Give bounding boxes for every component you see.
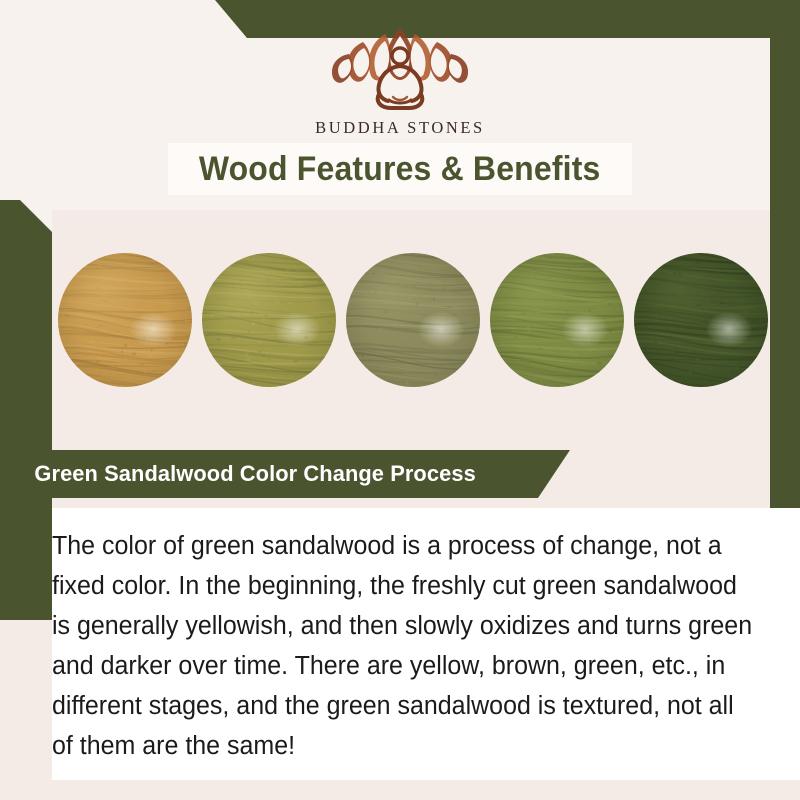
page-title-box: Wood Features & Benefits [168,143,632,195]
lotus-meditation-icon [315,22,485,114]
body-text-box: The color of green sandalwood is a proce… [52,508,800,780]
bead-stage-4-olive-green [490,253,624,387]
bead-stage-5-dark-green [634,253,768,387]
bead-stage-3-grey-green [346,253,480,387]
body-paragraph: The color of green sandalwood is a proce… [52,526,758,766]
brand-wordmark: BUDDHA STONES [0,118,800,138]
bead-color-progression [52,253,770,403]
bead-specular-highlight [274,312,320,347]
infographic-canvas: BUDDHA STONES Wood Features & Benefits G… [0,0,800,800]
bead-specular-highlight [130,312,176,347]
bead-specular-highlight [418,312,464,347]
bead-specular-highlight [706,312,752,347]
brand-logo: BUDDHA STONES [0,22,800,138]
section-banner-label: Green Sandalwood Color Change Process [7,461,476,487]
bead-stage-1-yellow-tan [58,253,192,387]
bead-stage-2-yellow-green [202,253,336,387]
page-title: Wood Features & Benefits [199,150,601,189]
section-banner: Green Sandalwood Color Change Process [0,450,600,498]
bead-specular-highlight [562,312,608,347]
